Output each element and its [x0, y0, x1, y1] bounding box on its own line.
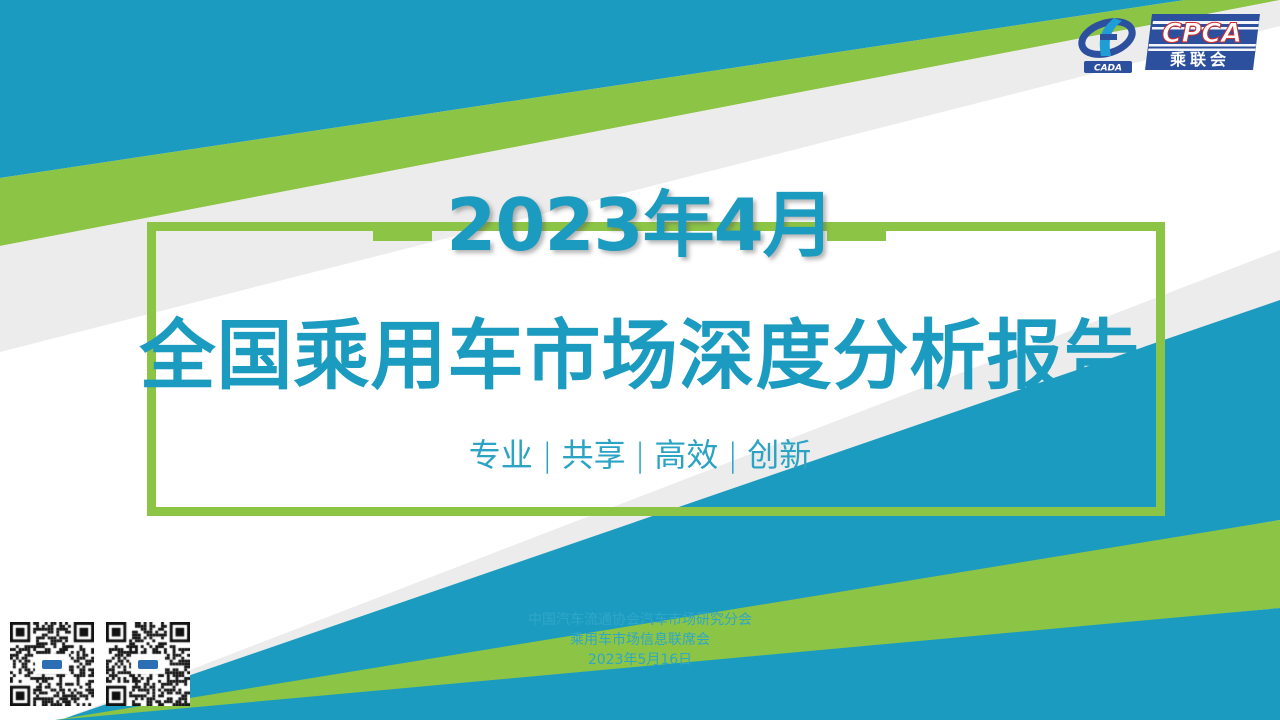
qr-code-1-center-logo — [38, 656, 66, 672]
tagline-item: 创新 — [747, 436, 811, 474]
cada-wordmark: CADA — [1094, 64, 1122, 74]
tagline-item: 共享 — [562, 436, 626, 474]
footer-line-2: 乘用车市场信息联席会 — [0, 630, 1280, 650]
qr-code-2-center-logo — [134, 656, 162, 672]
date-title: 2023年4月 — [0, 182, 1280, 268]
cpca-cada-logo: CADA CPCA 乘联会 — [1070, 8, 1260, 78]
tagline: 专业|共享|高效|创新 — [0, 432, 1280, 478]
tagline-separator: | — [533, 436, 562, 474]
cpca-cn-wordmark: 乘联会 — [1169, 50, 1230, 69]
tagline-item: 高效 — [654, 436, 718, 474]
footer-line-1: 中国汽车流通协会汽车市场研究分会 — [0, 610, 1280, 630]
cpca-wordmark: CPCA — [1162, 18, 1242, 49]
tagline-separator: | — [718, 436, 747, 474]
cpca-mark-icon: CPCA 乘联会 — [1145, 14, 1260, 70]
qr-code-1[interactable] — [10, 622, 94, 706]
footer-line-3: 2023年5月16日 — [0, 650, 1280, 670]
tagline-item: 专业 — [469, 436, 533, 474]
page-title: 全国乘用车市场深度分析报告 — [0, 310, 1280, 402]
footer: 中国汽车流通协会汽车市场研究分会 乘用车市场信息联席会 2023年5月16日 — [0, 610, 1280, 670]
logo-svg: CADA CPCA 乘联会 — [1070, 8, 1260, 78]
cada-mark-icon: CADA — [1078, 16, 1137, 74]
qr-code-group — [10, 622, 190, 706]
slide-canvas: 2023年4月 全国乘用车市场深度分析报告 专业|共享|高效|创新 中国汽车流通… — [0, 0, 1280, 720]
tagline-separator: | — [626, 436, 655, 474]
qr-code-2[interactable] — [106, 622, 190, 706]
